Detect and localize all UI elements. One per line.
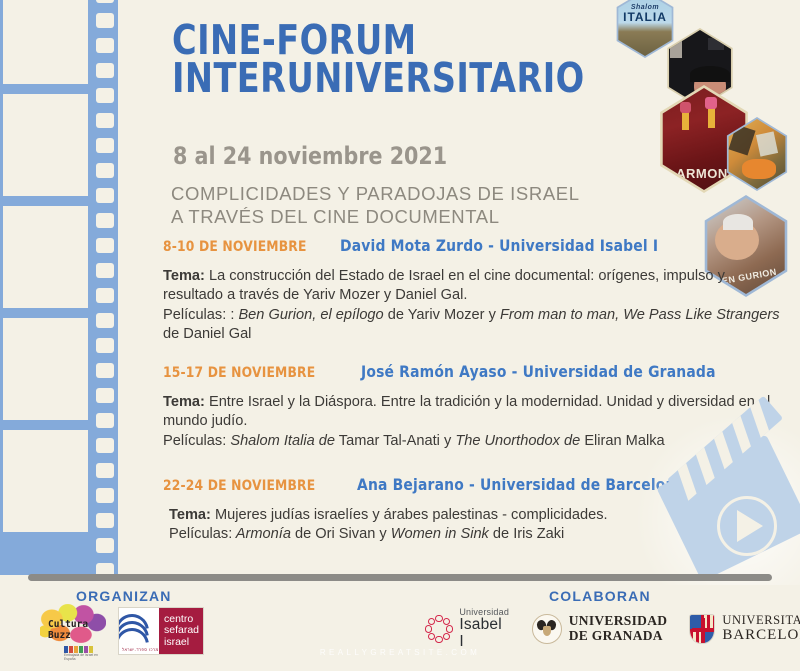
tema-label-3: Tema: xyxy=(169,507,211,523)
filmstrip-hole xyxy=(96,113,114,128)
pelicula-run-2: The Unorthodox de xyxy=(455,433,580,449)
filmstrip-hole xyxy=(96,388,114,403)
isabel-i-ring-icon xyxy=(424,614,453,644)
pelicula-run-3: de Iris Zaki xyxy=(489,526,564,542)
tema-text-1: La construcción del Estado de Israel en … xyxy=(163,268,725,303)
page-title-line-2: INTERUNIVERSITARIO xyxy=(172,60,631,98)
session-body-1: Tema: La construcción del Estado de Isra… xyxy=(163,267,788,345)
isabel-i-wordmark: Universidad Isabel I xyxy=(459,608,509,650)
pelicula-run-0: Shalom Italia de xyxy=(226,433,335,449)
isabel-i-ring-dot xyxy=(446,625,454,633)
session-date-2: 15-17 DE NOVIEMBRE xyxy=(163,365,315,381)
poster-title-block: CINE-FORUM INTERUNIVERSITARIO xyxy=(172,22,732,97)
filmstrip-hole xyxy=(96,138,114,153)
clapperboard-decoration xyxy=(631,410,800,585)
granada-wordmark: UNIVERSIDAD DE GRANADA xyxy=(569,614,668,643)
filmstrip-frame xyxy=(3,430,88,532)
pelicula-run-1: de Yariv Mozer y xyxy=(384,307,500,323)
peliculas-label-3: Películas: xyxy=(169,526,232,542)
isabel-i-ring-dot xyxy=(435,615,443,623)
logo-universitat-de-barcelona: UNIVERSITATDE BARCELONA xyxy=(689,614,800,644)
tema-text-3: Mujeres judías israelíes y árabes palest… xyxy=(211,507,608,523)
pelicula-run-1: Tamar Tal-Anati y xyxy=(335,433,455,449)
isabel-i-ring-dot xyxy=(443,618,451,626)
filmstrip-sprocket-holes xyxy=(96,0,114,575)
colaboran-logo-row: Universidad Isabel I UNIVERSIDAD DE GRAN… xyxy=(424,608,800,650)
session-date-1: 8-10 DE NOVIEMBRE xyxy=(163,239,307,255)
session-speaker-1: David Mota Zurdo - Universidad Isabel I xyxy=(340,236,658,255)
filmstrip-hole xyxy=(96,88,114,103)
logo-universidad-de-granada: UNIVERSIDAD DE GRANADA xyxy=(532,614,668,644)
filmstrip-hole xyxy=(96,463,114,478)
cultura-buzz-wordmark: Cultura Buzz xyxy=(48,620,88,641)
isabel-i-ring-dot xyxy=(443,633,451,641)
pelicula-run-2: Women in Sink xyxy=(391,526,489,542)
filmstrip-hole xyxy=(96,213,114,228)
filmstrip-hole xyxy=(96,363,114,378)
pelicula-run-0: Ben Gurion, el epílogo xyxy=(234,307,383,323)
filmstrip-hole xyxy=(96,0,114,3)
peliculas-label-2: Películas: xyxy=(163,433,226,449)
granada-eagle-crest-icon xyxy=(532,614,562,644)
filmstrip-hole xyxy=(96,538,114,553)
filmstrip-hole xyxy=(96,288,114,303)
isabel-i-ring-dot xyxy=(425,625,433,633)
filmstrip-hole xyxy=(96,438,114,453)
isabel-i-ring-dot xyxy=(428,618,436,626)
session-peliculas-1: Películas: : Ben Gurion, el epílogo de Y… xyxy=(163,306,788,345)
pelicula-run-1: de Ori Sivan y xyxy=(291,526,391,542)
filmstrip-frame xyxy=(3,0,88,84)
filmstrip-hole xyxy=(96,188,114,203)
event-subtitle: COMPLICIDADES Y PARADOJAS DE ISRAEL A TR… xyxy=(171,182,580,229)
filmstrip-hole xyxy=(96,38,114,53)
filmstrip-hole xyxy=(96,313,114,328)
filmstrip-frame xyxy=(3,318,88,420)
play-triangle-icon xyxy=(737,510,763,542)
tema-label-2: Tema: xyxy=(163,394,205,410)
barcelona-shield-icon xyxy=(689,614,715,644)
pelicula-run-2: From man to man, We Pass Like Strangers xyxy=(500,307,780,323)
filmstrip-frames xyxy=(3,0,88,542)
isabel-i-ring-dot xyxy=(428,633,436,641)
session-header-1: 8-10 DE NOVIEMBRE David Mota Zurdo - Uni… xyxy=(163,236,788,256)
filmstrip-hole xyxy=(96,413,114,428)
poster-canvas: Shalom ITALIA ARMONI xyxy=(0,0,800,671)
site-watermark: REALLYGREATSITE.COM xyxy=(0,648,800,657)
pelicula-run-3: de Daniel Gal xyxy=(163,326,251,342)
colaboran-heading: COLABORAN xyxy=(549,588,651,604)
session-date-3: 22-24 DE NOVIEMBRE xyxy=(163,478,315,494)
filmstrip-hole xyxy=(96,488,114,503)
pelicula-run-0: Armonía xyxy=(232,526,291,542)
session-tema-1: Tema: La construcción del Estado de Isra… xyxy=(163,267,788,306)
filmstrip-hole xyxy=(96,163,114,178)
footer-divider xyxy=(28,574,772,581)
barcelona-wordmark: UNIVERSITATDE BARCELONA xyxy=(722,614,800,643)
filmstrip-hole xyxy=(96,263,114,278)
filmstrip-decoration xyxy=(0,0,118,575)
filmstrip-hole xyxy=(96,13,114,28)
filmstrip-frame xyxy=(3,206,88,308)
session-speaker-2: José Ramón Ayaso - Universidad de Granad… xyxy=(361,362,716,381)
peliculas-label-1: Películas: : xyxy=(163,307,234,323)
session-header-2: 15-17 DE NOVIEMBRE José Ramón Ayaso - Un… xyxy=(163,362,788,382)
filmstrip-hole xyxy=(96,338,114,353)
filmstrip-frame xyxy=(3,94,88,196)
isabel-i-ring-dot xyxy=(435,636,443,644)
logo-universidad-isabel-i: Universidad Isabel I xyxy=(424,608,510,650)
session-block-1: 8-10 DE NOVIEMBRE David Mota Zurdo - Uni… xyxy=(163,236,788,345)
event-dates: 8 al 24 noviembre 2021 xyxy=(173,142,447,170)
filmstrip-hole xyxy=(96,238,114,253)
filmstrip-hole xyxy=(96,63,114,78)
tema-label-1: Tema: xyxy=(163,268,205,284)
filmstrip-hole xyxy=(96,513,114,528)
